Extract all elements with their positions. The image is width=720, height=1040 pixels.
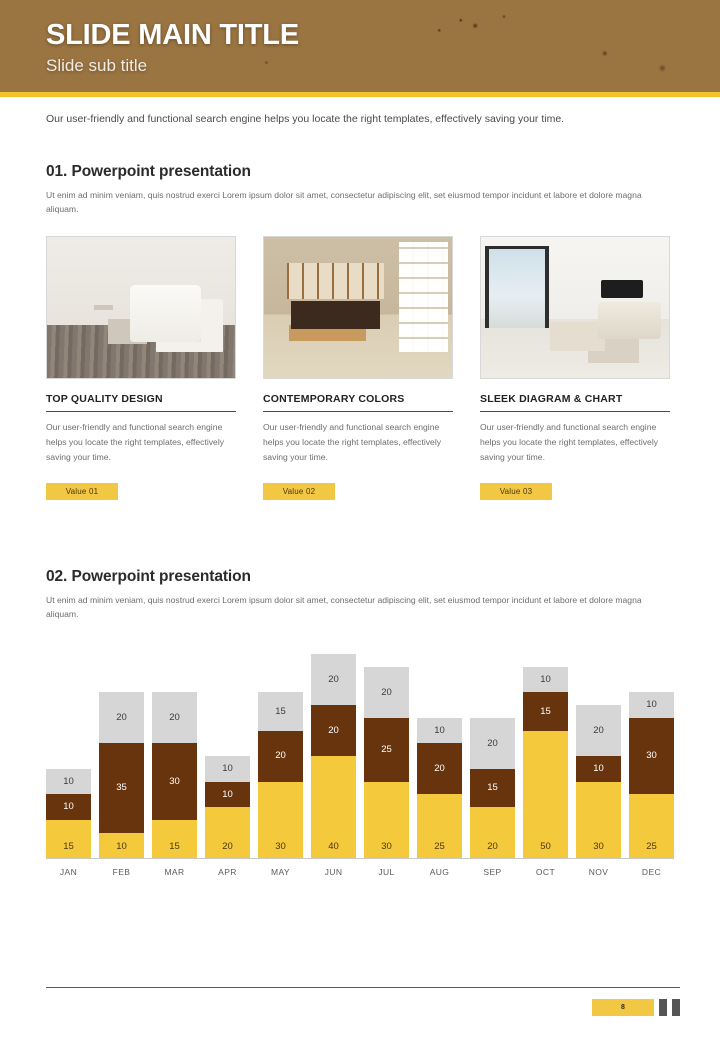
chart-bar-column[interactable]: 201520 [470,718,515,858]
chart-segment-gray: 20 [576,705,621,756]
chart-value-label: 10 [63,802,74,812]
feature-card[interactable]: SLEEK DIAGRAM & CHART Our user-friendly … [480,236,670,464]
chart-bar-column[interactable]: 203015 [152,692,197,858]
chart-segment-yellow: 20 [470,807,515,858]
chart-value-label: 15 [169,842,180,852]
chart-segment-yellow: 25 [417,794,462,858]
chart-value-label: 10 [540,675,551,685]
card-title: CONTEMPORARY COLORS [263,393,453,405]
value-badge-03[interactable]: Value 03 [480,483,552,500]
chart-segment-brown: 20 [258,731,303,782]
chart-segment-gray: 10 [417,718,462,744]
chart-value-label: 25 [646,842,657,852]
chart-value-label: 20 [222,842,233,852]
chart-value-label: 20 [328,675,339,685]
card-description: Our user-friendly and functional search … [480,420,670,464]
chart-value-label: 25 [381,745,392,755]
value-badge-cell: Value 01 [46,483,236,500]
chart-bar-column[interactable]: 201030 [576,705,621,858]
chart-value-label: 15 [540,707,551,717]
chart-x-tick-label: JUL [364,867,409,877]
chart-segment-brown: 15 [470,769,515,807]
chart-segment-gray: 20 [364,667,409,718]
chart-bar-column[interactable]: 102025 [417,718,462,858]
value-badge-cell: Value 02 [263,483,453,500]
chart-value-label: 20 [434,764,445,774]
card-title: TOP QUALITY DESIGN [46,393,236,405]
chart-segment-gray: 20 [152,692,197,743]
chart-bar-column[interactable]: 203510 [99,692,144,858]
chart-bar-column[interactable]: 202040 [311,654,356,858]
chart-bar-column[interactable]: 202530 [364,667,409,858]
stacked-bar-chart: 1010152035102030151010201520302020402025… [46,647,674,859]
chart-value-label: 30 [646,751,657,761]
chart-segment-brown: 30 [152,743,197,820]
footer-tick-bar-icon [672,999,680,1016]
chart-value-label: 15 [275,707,286,717]
chart-value-label: 20 [487,739,498,749]
chart-segment-yellow: 10 [99,833,144,859]
card-image-top-quality-design [46,236,236,379]
chart-value-label: 30 [275,842,286,852]
chart-bar-column[interactable]: 101015 [46,769,91,858]
feature-card[interactable]: CONTEMPORARY COLORS Our user-friendly an… [263,236,453,464]
intro-paragraph: Our user-friendly and functional search … [0,97,720,125]
chart-value-label: 30 [381,842,392,852]
chart-value-label: 15 [487,783,498,793]
page-number-box[interactable]: 8 [592,999,654,1016]
chart-value-label: 10 [434,726,445,736]
card-divider [46,411,236,412]
chart-value-label: 50 [540,842,551,852]
chart-x-tick-label: SEP [470,867,515,877]
chart-segment-brown: 20 [417,743,462,794]
chart-segment-brown: 35 [99,743,144,832]
chart-bar-column[interactable]: 101020 [205,756,250,858]
chart-x-tick-label: JUN [311,867,356,877]
chart-segment-brown: 30 [629,718,674,795]
section-one-title: 01. Powerpoint presentation [46,163,674,181]
chart-x-tick-label: FEB [99,867,144,877]
chart-segment-gray: 20 [99,692,144,743]
value-badge-02[interactable]: Value 02 [263,483,335,500]
chart-value-label: 10 [222,764,233,774]
card-divider [480,411,670,412]
chart-segment-brown: 20 [311,705,356,756]
chart-segment-yellow: 15 [152,820,197,858]
chart-segment-yellow: 50 [523,731,568,859]
chart-x-tick-label: OCT [523,867,568,877]
chart-segment-yellow: 20 [205,807,250,858]
chart-segment-gray: 20 [311,654,356,705]
chart-value-label: 20 [487,842,498,852]
chart-segment-yellow: 15 [46,820,91,858]
chart-value-label: 10 [116,842,127,852]
card-divider [263,411,453,412]
chart-segment-yellow: 25 [629,794,674,858]
chart-value-label: 20 [593,726,604,736]
chart-x-tick-label: APR [205,867,250,877]
chart-value-label: 20 [275,751,286,761]
chart-bar-column[interactable]: 103025 [629,692,674,858]
tv-shape-icon [601,280,642,298]
chart-segment-gray: 20 [470,718,515,769]
chart-value-label: 20 [169,713,180,723]
chart-value-label: 20 [328,726,339,736]
chart-value-label: 15 [63,842,74,852]
value-badge-cell: Value 03 [480,483,670,500]
chart-value-label: 35 [116,783,127,793]
chart-segment-brown: 10 [46,794,91,820]
chart-segment-gray: 10 [205,756,250,782]
chart-segment-yellow: 30 [364,782,409,859]
section-two-title: 02. Powerpoint presentation [46,568,674,586]
chart-x-axis: JANFEBMARAPRMAYJUNJULAUGSEPOCTNOVDEC [46,867,674,877]
chart-segment-gray: 15 [258,692,303,730]
card-description: Our user-friendly and functional search … [46,420,236,464]
value-badge-row: Value 01 Value 02 Value 03 [46,483,674,500]
chart-value-label: 30 [593,842,604,852]
page-number: 8 [621,1004,625,1011]
section-one: 01. Powerpoint presentation Ut enim ad m… [0,163,720,500]
chart-segment-yellow: 30 [258,782,303,859]
section-one-body: Ut enim ad minim veniam, quis nostrud ex… [46,188,674,216]
page-subtitle: Slide sub title [46,56,299,76]
chart-x-tick-label: NOV [576,867,621,877]
chart-value-label: 10 [646,700,657,710]
section-two: 02. Powerpoint presentation Ut enim ad m… [0,568,720,621]
value-badge-01[interactable]: Value 01 [46,483,118,500]
slide-header: SLIDE MAIN TITLE Slide sub title [0,0,720,92]
chart-segment-gray: 10 [523,667,568,693]
chart-x-tick-label: DEC [629,867,674,877]
chart-x-tick-label: MAY [258,867,303,877]
header-text-block: SLIDE MAIN TITLE Slide sub title [46,20,299,76]
chart-value-label: 10 [63,777,74,787]
chart-bar-column[interactable]: 101550 [523,667,568,858]
chart-x-tick-label: JAN [46,867,91,877]
feature-card-list: TOP QUALITY DESIGN Our user-friendly and… [46,236,674,464]
chart-container: 1010152035102030151010201520302020402025… [0,647,720,877]
chart-x-tick-label: MAR [152,867,197,877]
footer-controls: 8 [46,999,680,1016]
chart-segment-brown: 10 [205,782,250,808]
chart-value-label: 30 [169,777,180,787]
chart-segment-gray: 10 [46,769,91,795]
chart-x-tick-label: AUG [417,867,462,877]
card-title: SLEEK DIAGRAM & CHART [480,393,670,405]
chart-segment-brown: 25 [364,718,409,782]
card-image-contemporary-colors [263,236,453,379]
card-description: Our user-friendly and functional search … [263,420,453,464]
section-two-body: Ut enim ad minim veniam, quis nostrud ex… [46,593,674,621]
footer-divider [46,987,680,988]
chart-segment-brown: 10 [576,756,621,782]
chart-segment-brown: 15 [523,692,568,730]
chart-segment-yellow: 30 [576,782,621,859]
slide-footer: 8 [46,987,680,1016]
footer-tick-bar-icon [659,999,667,1016]
feature-card[interactable]: TOP QUALITY DESIGN Our user-friendly and… [46,236,236,464]
chart-segment-gray: 10 [629,692,674,718]
chart-value-label: 10 [222,790,233,800]
page-title: SLIDE MAIN TITLE [46,20,299,50]
chart-value-label: 25 [434,842,445,852]
chart-segment-yellow: 40 [311,756,356,858]
chart-bar-column[interactable]: 152030 [258,692,303,858]
chart-value-label: 10 [593,764,604,774]
chart-value-label: 20 [116,713,127,723]
chart-value-label: 20 [381,688,392,698]
chart-value-label: 40 [328,842,339,852]
card-image-sleek-diagram-chart [480,236,670,379]
